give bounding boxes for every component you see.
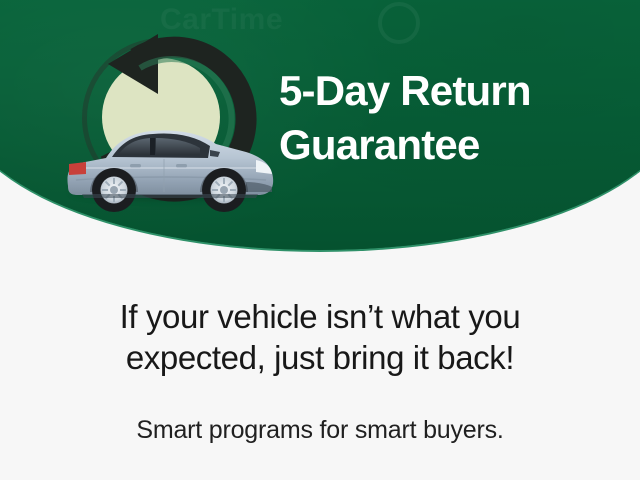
watermark-logo-icon: [378, 2, 420, 44]
return-guarantee-graphic: [60, 30, 280, 220]
body-copy: If your vehicle isn’t what you expected,…: [0, 296, 640, 378]
tagline: Smart programs for smart buyers.: [0, 414, 640, 446]
hero-headline: 5-Day Return Guarantee: [279, 64, 609, 172]
hero-headline-line-2: Guarantee: [279, 118, 609, 172]
hero-headline-line-1: 5-Day Return: [279, 64, 609, 118]
body-copy-line-2: expected, just bring it back!: [0, 337, 640, 378]
promo-banner: CarTime: [0, 0, 640, 480]
body-copy-line-1: If your vehicle isn’t what you: [0, 296, 640, 337]
car-side-icon: [60, 102, 280, 220]
